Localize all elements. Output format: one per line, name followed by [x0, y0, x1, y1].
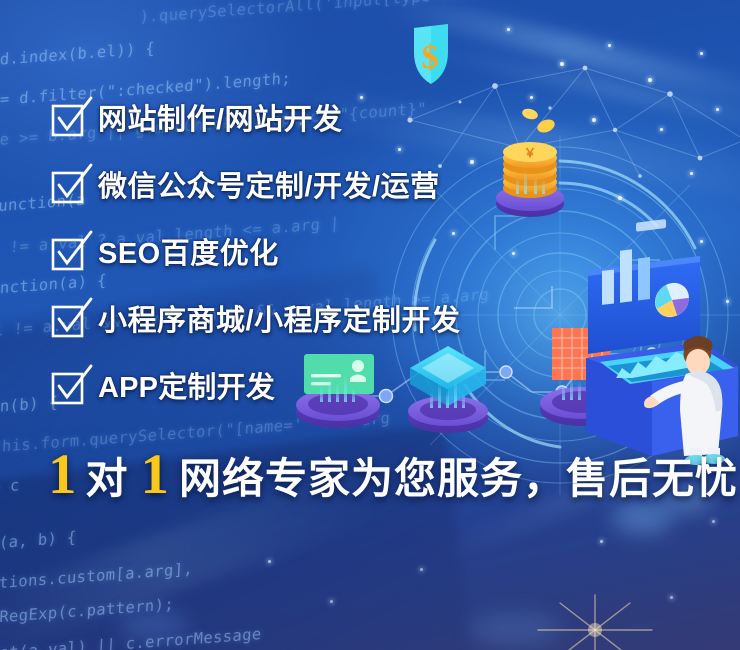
- promo-headline: 1 对 1 网络专家为您服务，售后无忧！: [48, 446, 740, 503]
- headline-middle-word: 对: [86, 458, 128, 500]
- service-item-app[interactable]: APP定制开发: [52, 368, 692, 408]
- sparkle-dot: [600, 540, 603, 543]
- sparkle-dot: [330, 600, 333, 603]
- sparkle-dot: [420, 568, 423, 571]
- sparkle-dot: [268, 560, 271, 563]
- checkbox-checked-icon[interactable]: [52, 373, 82, 403]
- service-item-miniprogram[interactable]: 小程序商城/小程序定制开发: [52, 301, 692, 341]
- headline-number-second: 1: [141, 446, 170, 503]
- sparkle-dot: [608, 44, 611, 47]
- sparkle-dot: [712, 520, 715, 523]
- sparkle-dot: [530, 96, 533, 99]
- service-item-label: SEO百度优化: [98, 240, 279, 269]
- bokeh-blob: [118, 610, 188, 640]
- sparkle-dot: [648, 78, 652, 82]
- code-line: = d.index(b.el)) {: [0, 39, 156, 70]
- service-item-label: 小程序商城/小程序定制开发: [98, 307, 461, 336]
- service-item-label: APP定制开发: [98, 374, 275, 403]
- sparkle-dot: [507, 28, 510, 31]
- service-item-label: 网站制作/网站开发: [98, 106, 343, 135]
- sparkle-dot: [700, 52, 703, 55]
- headline-number-first: 1: [48, 446, 77, 503]
- checkbox-checked-icon[interactable]: [52, 105, 82, 135]
- headline-tail-text: 网络专家为您服务，售后无忧！: [179, 458, 740, 500]
- sparkle-dot: [560, 62, 564, 66]
- service-item-label: 微信公众号定制/开发/运营: [98, 173, 440, 202]
- code-line: n d.test(a.val) || c.errorMessage: [0, 625, 262, 650]
- code-line: nction(a, b) {: [0, 528, 77, 556]
- shield-dollar-icon: $: [414, 24, 448, 84]
- sparkle-dot: [670, 596, 673, 599]
- code-line: = b.options.custom[a.arg],: [0, 560, 194, 597]
- sparkle-dot: [700, 240, 703, 243]
- lens-flare-icon: [520, 585, 670, 650]
- code-line: = new RegExp(c.pattern);: [0, 595, 174, 630]
- checkbox-checked-icon[interactable]: [52, 239, 82, 269]
- service-item-wechat[interactable]: 微信公众号定制/开发/运营: [52, 167, 692, 207]
- service-checklist: 网站制作/网站开发 微信公众号定制/开发/运营 SEO百度优化: [52, 100, 692, 435]
- code-line: 1 == c: [0, 476, 20, 498]
- sparkle-dot: [360, 96, 363, 99]
- bokeh-blob: [612, 500, 674, 534]
- svg-text:$: $: [422, 39, 439, 76]
- checkbox-checked-icon[interactable]: [52, 172, 82, 202]
- checkbox-checked-icon[interactable]: [52, 306, 82, 336]
- bokeh-blob: [470, 612, 560, 646]
- service-item-website[interactable]: 网站制作/网站开发: [52, 100, 692, 140]
- sparkle-dot: [716, 108, 719, 111]
- service-item-seo[interactable]: SEO百度优化: [52, 234, 692, 274]
- promo-banner: ).querySelectorAll('input[type=checkbox]…: [0, 0, 740, 650]
- code-line: ).querySelectorAll('input[type=checkbox]…: [139, 0, 557, 26]
